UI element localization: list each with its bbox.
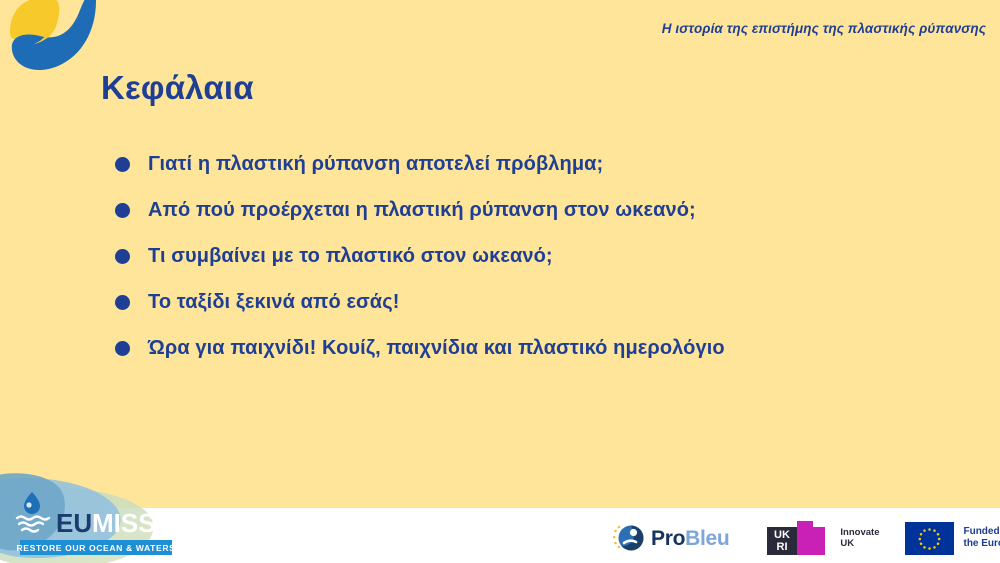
bullet-dot-icon [115, 249, 130, 264]
eu-flag-icon [905, 522, 954, 555]
eu-funding-line2: the European Union [963, 538, 1000, 550]
probleu-bleu-text: Bleu [685, 527, 729, 550]
svg-text:EU: EU [56, 508, 92, 538]
ukri-mark-icon: UK RI [767, 521, 831, 555]
list-item[interactable]: Τι συμβαίνει με το πλαστικό στον ωκεανό; [115, 233, 945, 279]
list-item-label: Από πού προέρχεται η πλαστική ρύπανση στ… [148, 199, 696, 222]
svg-text:MISSIONS: MISSIONS [92, 508, 205, 538]
list-item[interactable]: Γιατί η πλαστική ρύπανση αποτελεί πρόβλη… [115, 141, 945, 187]
list-item[interactable]: Από πού προέρχεται η πλαστική ρύπανση στ… [115, 187, 945, 233]
probleu-pro-text: Pro [651, 527, 685, 550]
ukri-innovate-line1: Innovate [840, 527, 879, 538]
eu-funding-line1: Funded by [963, 526, 1000, 538]
probleu-logo: ProBleu [612, 522, 729, 554]
svg-text:RESTORE OUR OCEAN & WATERS: RESTORE OUR OCEAN & WATERS [17, 543, 176, 553]
svg-text:RI: RI [777, 541, 788, 553]
list-item-label: Ώρα για παιχνίδι! Κουίζ, παιχνίδια και π… [148, 337, 725, 360]
list-item-label: Γιατί η πλαστική ρύπανση αποτελεί πρόβλη… [148, 153, 603, 176]
bullet-dot-icon [115, 203, 130, 218]
bullet-dot-icon [115, 157, 130, 172]
header-title: Η ιστορία της επιστήμης της πλαστικής ρύ… [662, 21, 986, 36]
list-item-label: Το ταξίδι ξεκινά από εσάς! [148, 291, 399, 314]
list-item-label: Τι συμβαίνει με το πλαστικό στον ωκεανό; [148, 245, 553, 268]
eu-missions-logo: EU MISSIONS RESTORE OUR OCEAN & WATERS [0, 458, 205, 563]
slide-canvas: Η ιστορία της επιστήμης της πλαστικής ρύ… [0, 0, 1000, 563]
probleu-mark-icon [612, 522, 646, 554]
page-title: Κεφάλαια [101, 69, 254, 107]
eu-funding-logo: Funded by the European Union [905, 522, 1000, 555]
footer-logo-strip: ProBleu UK RI Innovate UK [612, 520, 1000, 556]
list-item[interactable]: Ώρα για παιχνίδι! Κουίζ, παιχνίδια και π… [115, 325, 945, 371]
bullet-dot-icon [115, 295, 130, 310]
chapter-list: Γιατί η πλαστική ρύπανση αποτελεί πρόβλη… [115, 141, 945, 371]
list-item[interactable]: Το ταξίδι ξεκινά από εσάς! [115, 279, 945, 325]
svg-text:UK: UK [774, 529, 790, 541]
ukri-innovate-line2: UK [840, 538, 879, 549]
ukri-innovate-uk-logo: UK RI Innovate UK [767, 521, 879, 555]
bullet-dot-icon [115, 341, 130, 356]
decorative-corner-logo [0, 0, 115, 92]
